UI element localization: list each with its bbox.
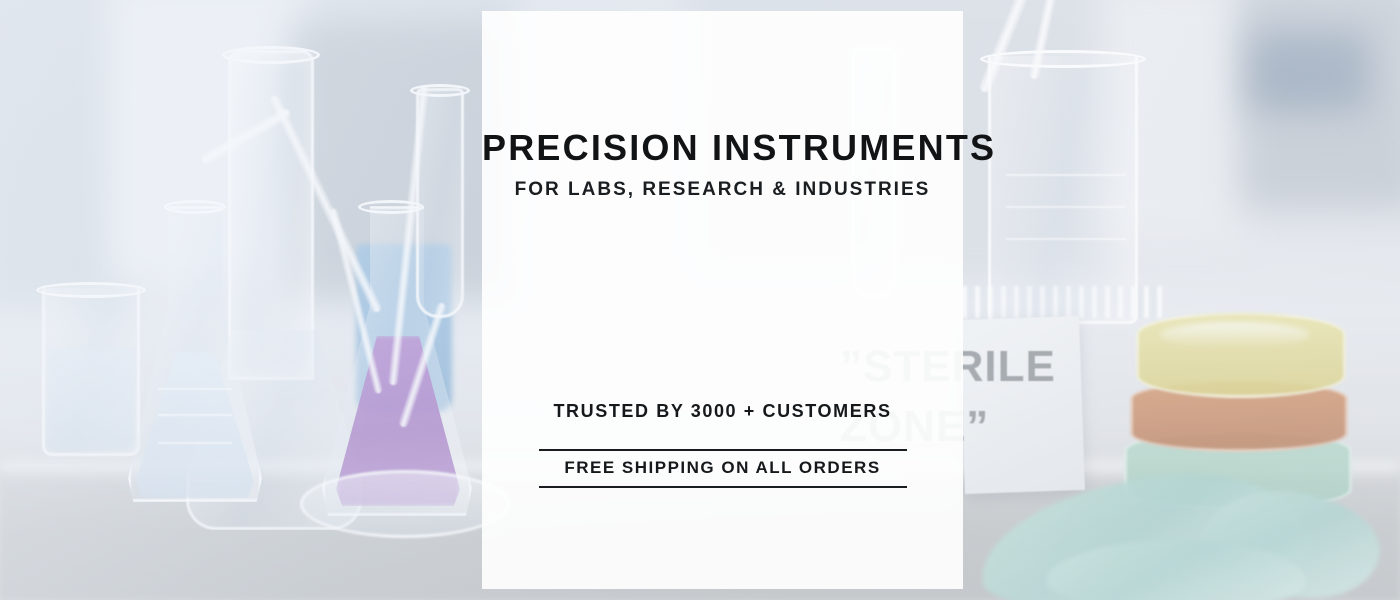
content-panel: PRECISION INSTRUMENTS FOR LABS, RESEARCH… [482,11,963,589]
trust-group: TRUSTED BY 3000 + CUSTOMERS FREE SHIPPIN… [482,401,963,488]
hero-banner: ”STERILE ZONE” PRECISION INSTRUMENTS FOR… [0,0,1400,600]
page-subtitle: FOR LABS, RESEARCH & INDUSTRIES [482,179,963,202]
free-shipping-banner: FREE SHIPPING ON ALL ORDERS [539,449,907,488]
trusted-by-text: TRUSTED BY 3000 + CUSTOMERS [553,401,891,422]
free-shipping-text: FREE SHIPPING ON ALL ORDERS [539,458,907,478]
page-title: PRECISION INSTRUMENTS [482,128,963,168]
headline-group: PRECISION INSTRUMENTS FOR LABS, RESEARCH… [482,128,963,201]
